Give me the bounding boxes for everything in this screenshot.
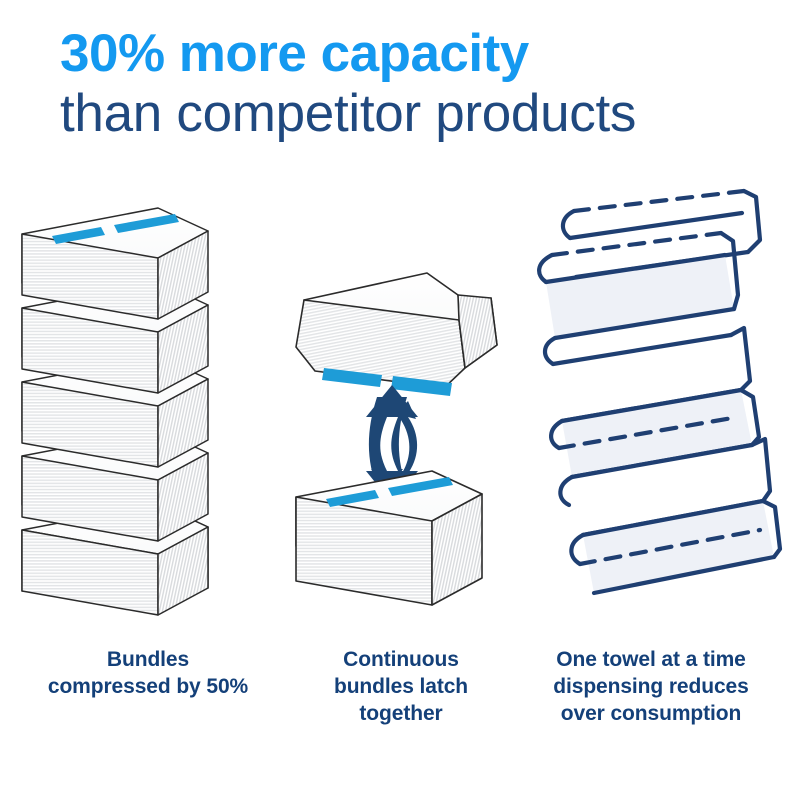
bundle-lower xyxy=(296,471,482,605)
illustration-stacked-bundles xyxy=(10,185,286,640)
headline-line-2: than competitor products xyxy=(60,83,760,144)
caption-line: dispensing reduces xyxy=(512,674,790,701)
headline-line-1: 30% more capacity xyxy=(60,24,760,83)
caption-dispense: One towel at a time dispensing reduces o… xyxy=(512,647,790,728)
caption-bundles: Bundles compressed by 50% xyxy=(10,647,286,701)
caption-line: over consumption xyxy=(512,701,790,728)
caption-line: One towel at a time xyxy=(512,647,790,674)
panel-row: Bundles compressed by 50% xyxy=(0,185,800,745)
headline: 30% more capacity than competitor produc… xyxy=(60,24,760,145)
illustration-latching-bundles xyxy=(282,185,520,640)
panel-bundles: Bundles compressed by 50% xyxy=(10,185,286,745)
caption-line: together xyxy=(282,701,520,728)
caption-latch: Continuous bundles latch together xyxy=(282,647,520,728)
illustration-zfold-towels xyxy=(512,185,790,640)
caption-line: bundles latch xyxy=(282,674,520,701)
panel-latch: Continuous bundles latch together xyxy=(282,185,520,745)
caption-line: compressed by 50% xyxy=(10,674,286,701)
infographic-canvas: 30% more capacity than competitor produc… xyxy=(0,0,800,800)
panel-dispense: One towel at a time dispensing reduces o… xyxy=(512,185,790,745)
caption-line: Continuous xyxy=(282,647,520,674)
caption-line: Bundles xyxy=(10,647,286,674)
